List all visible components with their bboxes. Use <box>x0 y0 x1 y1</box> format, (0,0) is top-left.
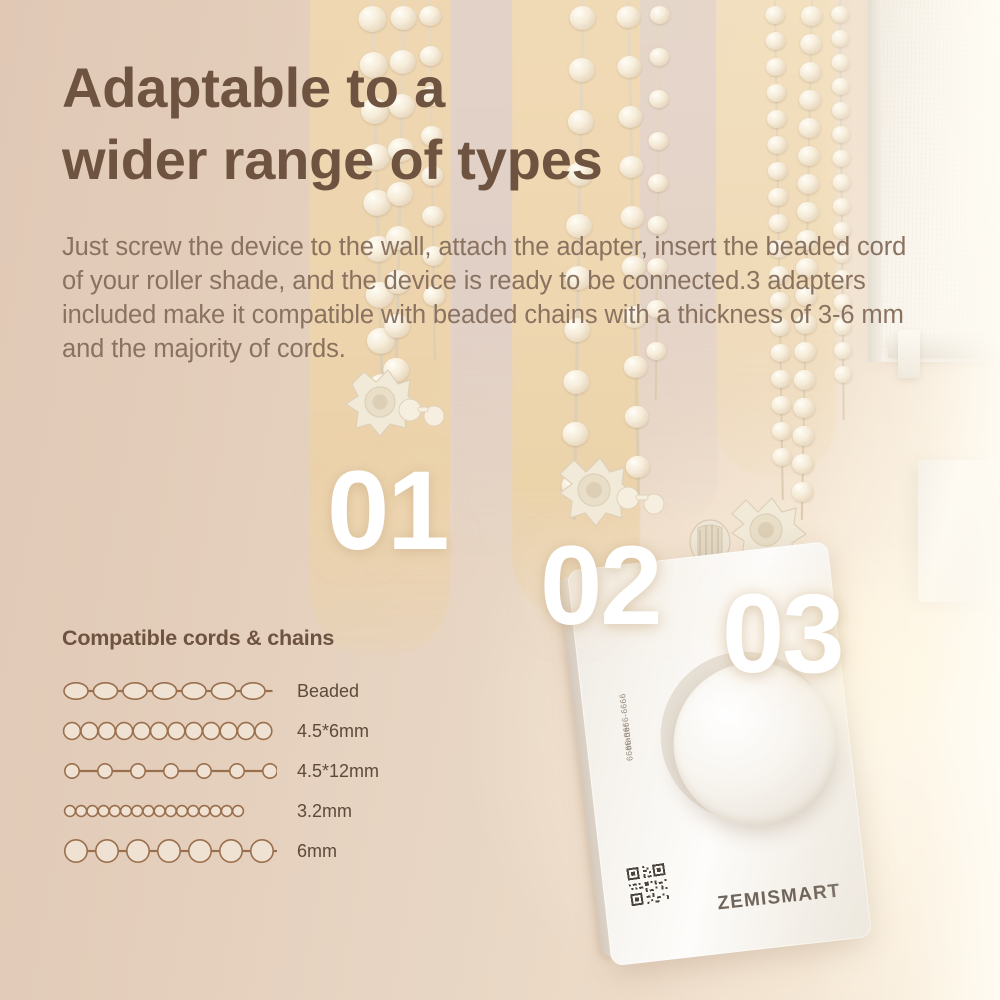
legend-row: Beaded <box>62 671 452 711</box>
legend-row: 4.5*6mm <box>62 711 452 751</box>
chain-bead <box>799 62 821 83</box>
chain-bead <box>832 150 850 167</box>
chain-bead <box>767 110 787 129</box>
chain-bead <box>800 6 822 27</box>
chain-bead <box>563 370 589 394</box>
chain-bead <box>792 454 814 475</box>
headline-line-1: Adaptable to a <box>62 56 445 119</box>
step-number-02: 02 <box>540 530 661 642</box>
chain-bead <box>798 118 820 139</box>
legend-title: Compatible cords & chains <box>62 626 452 651</box>
chain-bead <box>422 206 444 227</box>
legend-label: 4.5*6mm <box>297 721 369 742</box>
chain-bead <box>831 30 849 47</box>
chain-bead <box>358 6 387 32</box>
chain-bead <box>765 6 785 25</box>
chain-bead <box>834 366 852 383</box>
chain-bead <box>800 34 822 55</box>
chain-bead <box>767 136 787 155</box>
chain-bead <box>569 6 595 30</box>
chain-bead <box>768 162 788 181</box>
chain-bead <box>390 6 416 30</box>
legend-label: 4.5*12mm <box>297 761 379 782</box>
chain-bead <box>798 146 820 167</box>
chain-bead <box>832 78 850 95</box>
chain-bead <box>766 58 786 77</box>
chain-bead <box>620 206 644 229</box>
chain-long-bar-icon <box>62 756 277 786</box>
legend-row: 6mm <box>62 831 452 871</box>
chain-bead <box>650 6 670 25</box>
chain-small-circles-icon <box>62 796 277 826</box>
legend-label: 6mm <box>297 841 337 862</box>
chain-bead <box>831 6 849 23</box>
description-paragraph: Just screw the device to the wall, attac… <box>62 230 922 367</box>
chain-bead <box>766 32 786 51</box>
chain-bead <box>831 54 849 71</box>
chain-bead <box>771 370 791 389</box>
chain-bead <box>793 398 815 419</box>
step-number-03: 03 <box>722 578 843 690</box>
legend-rows: Beaded4.5*6mm4.5*12mm3.2mm6mm <box>62 671 452 871</box>
chain-large-circles-icon <box>62 836 277 866</box>
chain-bead <box>797 202 819 223</box>
step-number-01: 01 <box>327 455 448 567</box>
chain-bead <box>832 126 850 143</box>
chain-bead <box>771 396 791 415</box>
chain-bead <box>772 422 792 441</box>
chain-bead <box>766 84 786 103</box>
chain-bead <box>797 174 819 195</box>
product-banner: matter 6666-6666-6666 ZEMISMART Adaptabl… <box>0 0 1000 1000</box>
chain-bead <box>772 448 792 467</box>
chain-bead <box>794 370 816 391</box>
chain-oval-link-icon <box>62 676 277 706</box>
chain-bead <box>833 174 851 191</box>
compatible-cords-legend: Compatible cords & chains Beaded4.5*6mm4… <box>62 626 452 871</box>
chain-bead <box>616 6 640 29</box>
legend-row: 4.5*12mm <box>62 751 452 791</box>
page-title: Adaptable to a wider range of types <box>62 52 762 195</box>
chain-bead <box>832 102 850 119</box>
chain-bead <box>419 6 441 27</box>
headline-line-2: wider range of types <box>62 124 762 196</box>
chain-bead <box>799 90 821 111</box>
qr-code-icon <box>624 861 672 909</box>
chain-bead <box>792 426 814 447</box>
chain-bead <box>833 198 851 215</box>
chain-touching-circles-icon <box>62 716 277 746</box>
adapter-gear-01 <box>318 356 448 452</box>
chain-bead <box>625 406 649 429</box>
wall-panel <box>918 460 996 602</box>
legend-label: Beaded <box>297 681 359 702</box>
chain-bead <box>768 188 788 207</box>
legend-row: 3.2mm <box>62 791 452 831</box>
legend-label: 3.2mm <box>297 801 352 822</box>
